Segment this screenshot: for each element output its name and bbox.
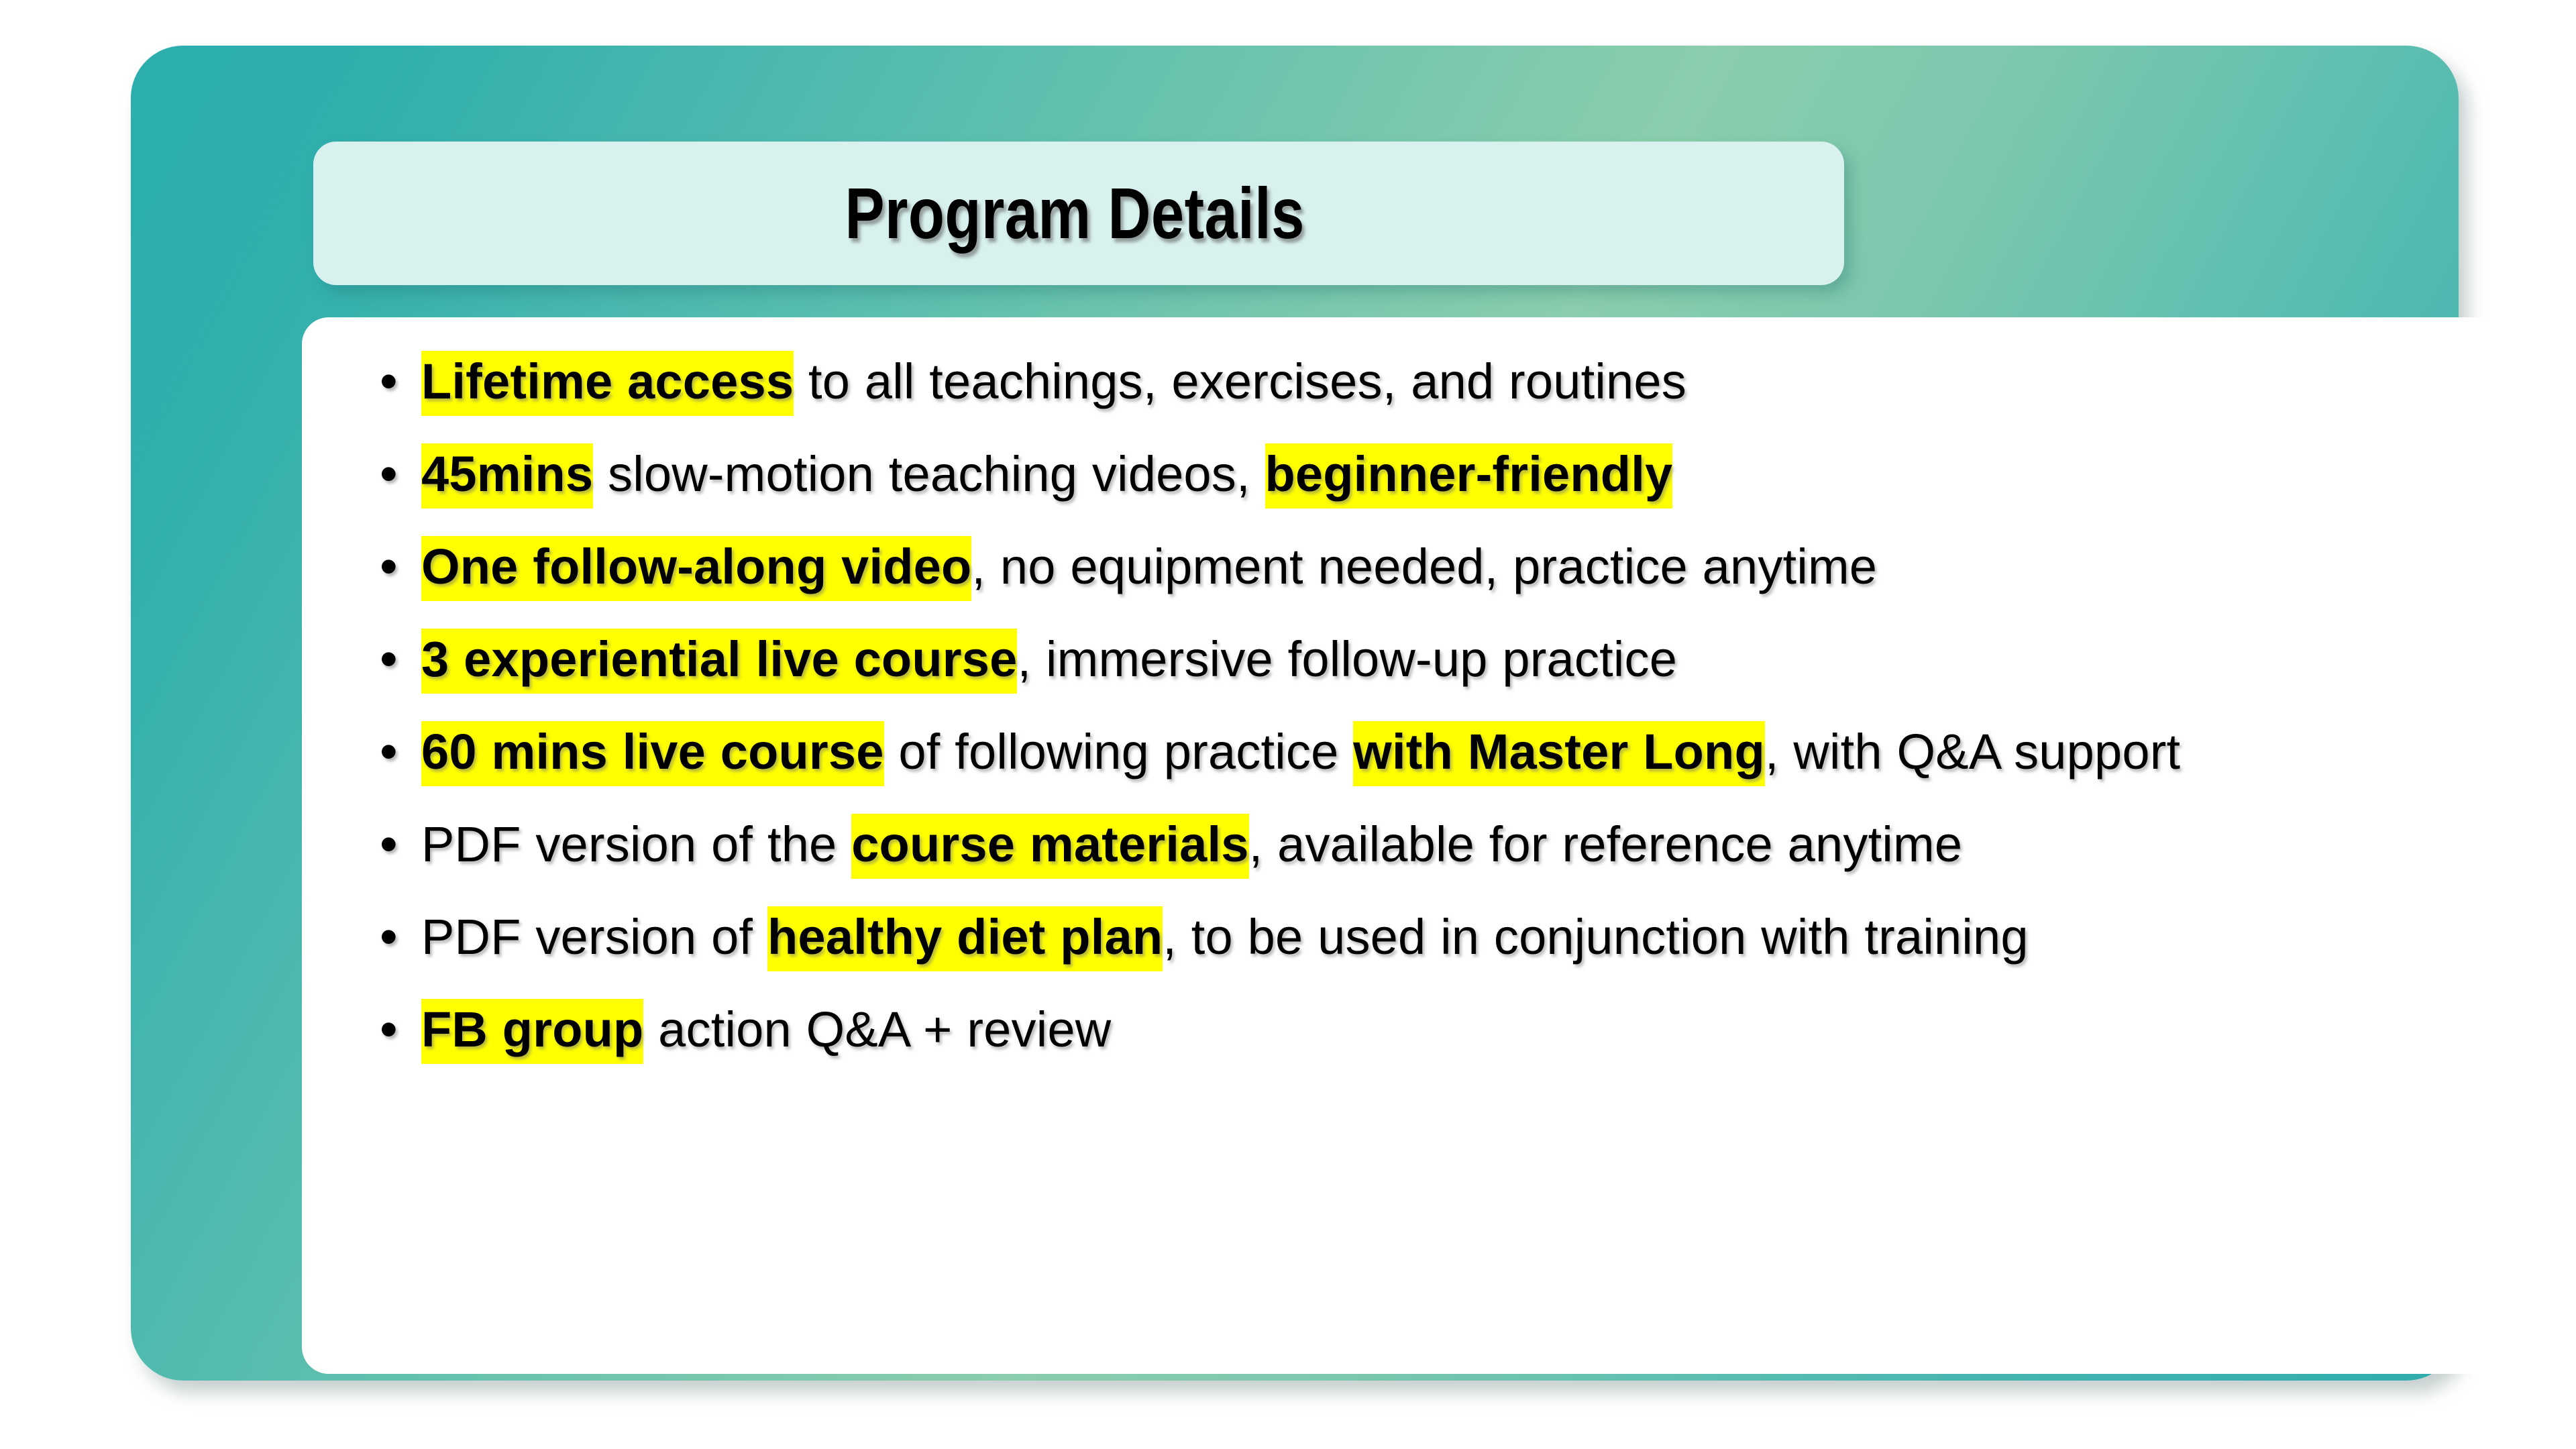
bullet-text-fb-group: FB group action Q&A + review xyxy=(421,991,2524,1069)
highlighted-phrase: FB group xyxy=(421,999,643,1064)
bullet-item-pdf-healthy-diet-plan: •PDF version of healthy diet plan, to be… xyxy=(342,898,2524,976)
bullet-item-45mins-videos: •45mins slow-motion teaching videos, beg… xyxy=(342,435,2524,513)
highlighted-phrase: beginner-friendly xyxy=(1265,443,1673,508)
highlighted-phrase: 45mins xyxy=(421,443,593,508)
bullet-item-fb-group: •FB group action Q&A + review xyxy=(342,991,2524,1069)
bullet-dot-icon: • xyxy=(342,435,421,513)
plain-phrase: , immersive follow-up practice xyxy=(1017,631,1677,687)
bullet-dot-icon: • xyxy=(342,621,421,698)
bullet-item-pdf-course-materials: •PDF version of the course materials, av… xyxy=(342,806,2524,883)
bullet-item-lifetime-access: •Lifetime access to all teachings, exerc… xyxy=(342,343,2524,421)
bullet-dot-icon: • xyxy=(342,528,421,606)
bullet-text-pdf-course-materials: PDF version of the course materials, ava… xyxy=(421,806,2524,883)
bullet-dot-icon: • xyxy=(342,991,421,1069)
plain-phrase: , no equipment needed, practice anytime xyxy=(971,539,1877,594)
bullet-text-60mins-live-course: 60 mins live course of following practic… xyxy=(421,713,2524,791)
bullet-dot-icon: • xyxy=(342,806,421,883)
slide-frame: Program Details •Lifetime access to all … xyxy=(131,46,2459,1381)
highlighted-phrase: One follow-along video xyxy=(421,536,971,601)
highlighted-phrase: course materials xyxy=(851,814,1248,879)
plain-phrase: action Q&A + review xyxy=(643,1002,1111,1057)
plain-phrase: slow-motion teaching videos, xyxy=(593,446,1265,502)
page-title: Program Details xyxy=(845,177,1313,250)
bullet-dot-icon: • xyxy=(342,898,421,976)
content-panel: •Lifetime access to all teachings, exerc… xyxy=(302,317,2551,1374)
bullet-dot-icon: • xyxy=(342,713,421,791)
bullet-dot-icon: • xyxy=(342,343,421,421)
highlighted-phrase: 60 mins live course xyxy=(421,721,884,786)
plain-phrase: , with Q&A support xyxy=(1765,724,2180,780)
program-details-bullet-list: •Lifetime access to all teachings, exerc… xyxy=(342,343,2524,1069)
bullet-text-45mins-videos: 45mins slow-motion teaching videos, begi… xyxy=(421,435,2524,513)
plain-phrase: of following practice xyxy=(884,724,1354,780)
bullet-text-follow-along-video: One follow-along video, no equipment nee… xyxy=(421,528,2524,606)
bullet-item-60mins-live-course: •60 mins live course of following practi… xyxy=(342,713,2524,791)
bullet-text-experiential-live-course: 3 experiential live course, immersive fo… xyxy=(421,621,2524,698)
highlighted-phrase: Lifetime access xyxy=(421,351,794,416)
plain-phrase: , available for reference anytime xyxy=(1249,816,1963,872)
highlighted-phrase: 3 experiential live course xyxy=(421,629,1017,694)
highlighted-phrase: healthy diet plan xyxy=(767,906,1163,971)
bullet-item-follow-along-video: •One follow-along video, no equipment ne… xyxy=(342,528,2524,606)
bullet-item-experiential-live-course: •3 experiential live course, immersive f… xyxy=(342,621,2524,698)
plain-phrase: PDF version of the xyxy=(421,816,851,872)
bullet-text-lifetime-access: Lifetime access to all teachings, exerci… xyxy=(421,343,2524,421)
plain-phrase: to all teachings, exercises, and routine… xyxy=(794,354,1686,409)
plain-phrase: PDF version of xyxy=(421,909,767,965)
highlighted-phrase: with Master Long xyxy=(1353,721,1765,786)
bullet-text-pdf-healthy-diet-plan: PDF version of healthy diet plan, to be … xyxy=(421,898,2524,976)
plain-phrase: , to be used in conjunction with trainin… xyxy=(1163,909,2028,965)
title-plate: Program Details xyxy=(313,142,1844,285)
